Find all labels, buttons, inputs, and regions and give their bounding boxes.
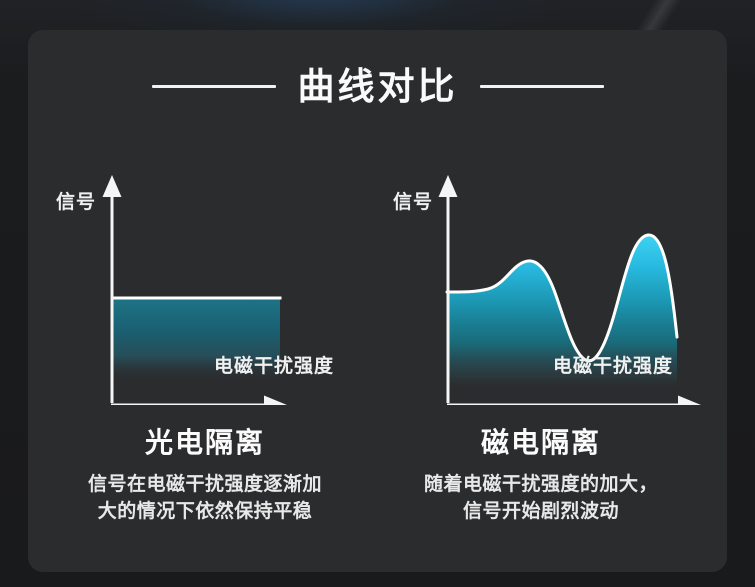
- magnetoelectric-y-axis-label: 信号: [393, 193, 433, 212]
- caption-magnetoelectric-heading: 磁电隔离: [376, 428, 706, 459]
- caption-photoelectric-heading: 光电隔离: [40, 428, 370, 459]
- caption-photoelectric-body: 信号在电磁干扰强度逐渐加大的情况下依然保持平稳: [80, 472, 330, 526]
- photoelectric-y-axis-arrow: [103, 175, 122, 197]
- chart-photoelectric: 信号 电磁干扰强度: [40, 145, 370, 405]
- title-rule-right: [480, 85, 604, 88]
- caption-magnetoelectric: 磁电隔离 随着电磁干扰强度的加大，信号开始剧烈波动: [376, 428, 706, 526]
- magnetoelectric-x-axis-arrow: [678, 396, 701, 406]
- section-title-row: 曲线对比: [28, 57, 727, 115]
- page-title: 曲线对比: [298, 68, 458, 105]
- title-rule-left: [152, 85, 276, 88]
- magnetoelectric-y-axis-arrow: [439, 175, 458, 197]
- caption-magnetoelectric-body: 随着电磁干扰强度的加大，信号开始剧烈波动: [416, 472, 666, 526]
- photoelectric-y-axis-label: 信号: [56, 193, 96, 212]
- photoelectric-x-axis-label: 电磁干扰强度: [214, 357, 334, 376]
- chart-magnetoelectric: 信号 电磁干扰强度: [376, 145, 706, 405]
- photoelectric-x-axis-arrow: [264, 396, 287, 406]
- caption-photoelectric: 光电隔离 信号在电磁干扰强度逐渐加大的情况下依然保持平稳: [40, 428, 370, 526]
- magnetoelectric-x-axis-label: 电磁干扰强度: [553, 357, 673, 376]
- photoelectric-area-fill: [113, 299, 280, 391]
- content-panel: 曲线对比 信号: [28, 30, 727, 572]
